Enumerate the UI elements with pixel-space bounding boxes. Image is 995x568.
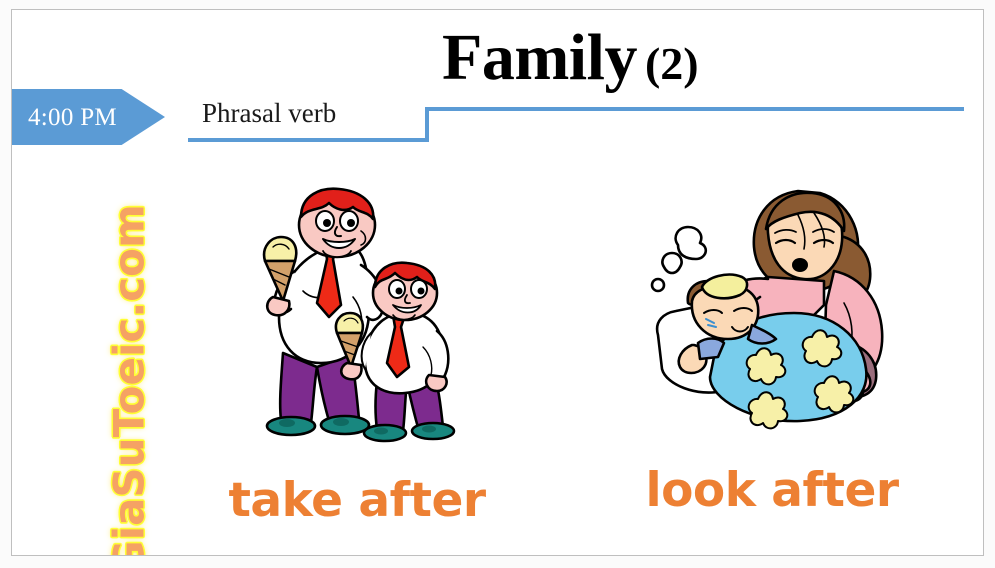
slide-page: 4:00 PM Phrasal verb Family(2) GiaSuToei… <box>0 0 995 568</box>
subtitle-phrasal-verb: Phrasal verb <box>202 98 336 129</box>
underline-riser <box>425 107 429 142</box>
subtitle-underline <box>188 138 429 142</box>
illustration-mother-caring-for-sick-child <box>648 185 896 433</box>
title-underline <box>425 107 964 111</box>
page-title-main: Family <box>442 21 637 94</box>
item-take-after: take after <box>192 185 522 545</box>
time-badge-label: 4:00 PM <box>11 105 117 130</box>
watermark-giasutoeic: GiaSuToeic.com <box>105 190 154 557</box>
time-badge: 4:00 PM <box>11 89 165 145</box>
phrase-label-take-after: take after <box>192 473 522 528</box>
illustration-father-and-son-ice-cream <box>251 185 463 447</box>
phrase-label-look-after: look after <box>607 463 937 518</box>
item-look-after: look after <box>607 185 937 545</box>
slide-canvas: 4:00 PM Phrasal verb Family(2) GiaSuToei… <box>11 9 984 556</box>
page-title-part-number: (2) <box>645 38 699 89</box>
page-title: Family(2) <box>442 20 972 96</box>
